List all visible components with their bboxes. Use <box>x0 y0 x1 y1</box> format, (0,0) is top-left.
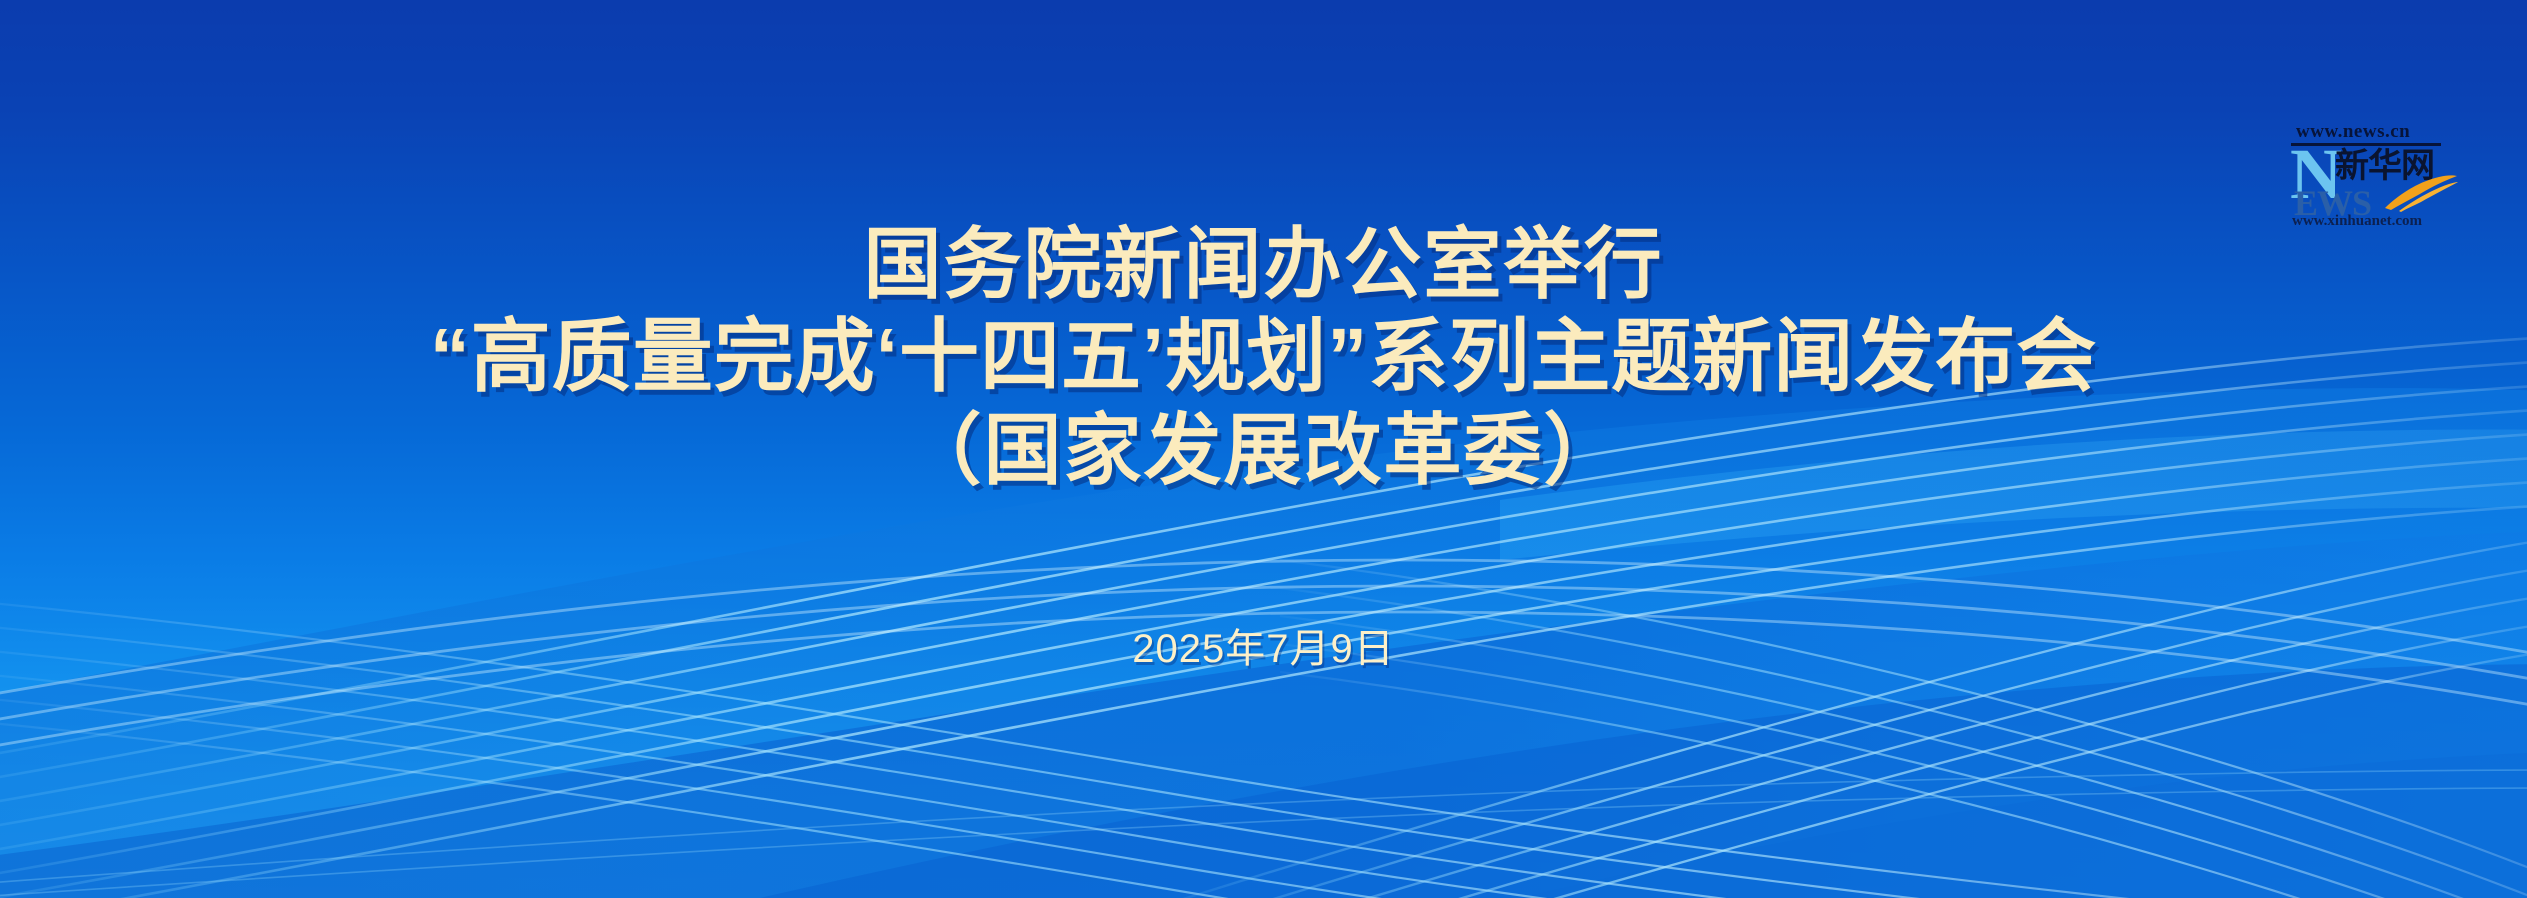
logo-url-bottom: www.xinhuanet.com <box>2292 214 2422 229</box>
banner-date: 2025年7月9日 <box>0 616 2527 674</box>
wave-lines-right-descending <box>1280 560 2527 898</box>
title-line-2: “高质量完成‘十四五’规划”系列主题新闻发布会 <box>0 310 2527 404</box>
title-line-1: 国务院新闻办公室举行 <box>0 218 2527 310</box>
wave-band-mid <box>0 530 2527 898</box>
wave-fine-streaks <box>0 770 2527 898</box>
title-line-3: （国家发展改革委） <box>0 404 2527 496</box>
logo-swoosh-icon <box>2383 172 2459 212</box>
banner-title: 国务院新闻办公室举行 “高质量完成‘十四五’规划”系列主题新闻发布会 （国家发展… <box>0 218 2527 496</box>
xinhuanet-logo[interactable]: www.news.cn N 新华网 EWS www.xinhuanet.com <box>2288 122 2460 232</box>
wave-band-front <box>760 664 2527 898</box>
logo-mark: N 新华网 EWS <box>2288 147 2460 219</box>
wave-band-front2 <box>1520 752 2527 898</box>
press-conference-banner: 国务院新闻办公室举行 “高质量完成‘十四五’规划”系列主题新闻发布会 （国家发展… <box>0 0 2527 898</box>
wave-lines-right-rising <box>1180 536 2527 898</box>
